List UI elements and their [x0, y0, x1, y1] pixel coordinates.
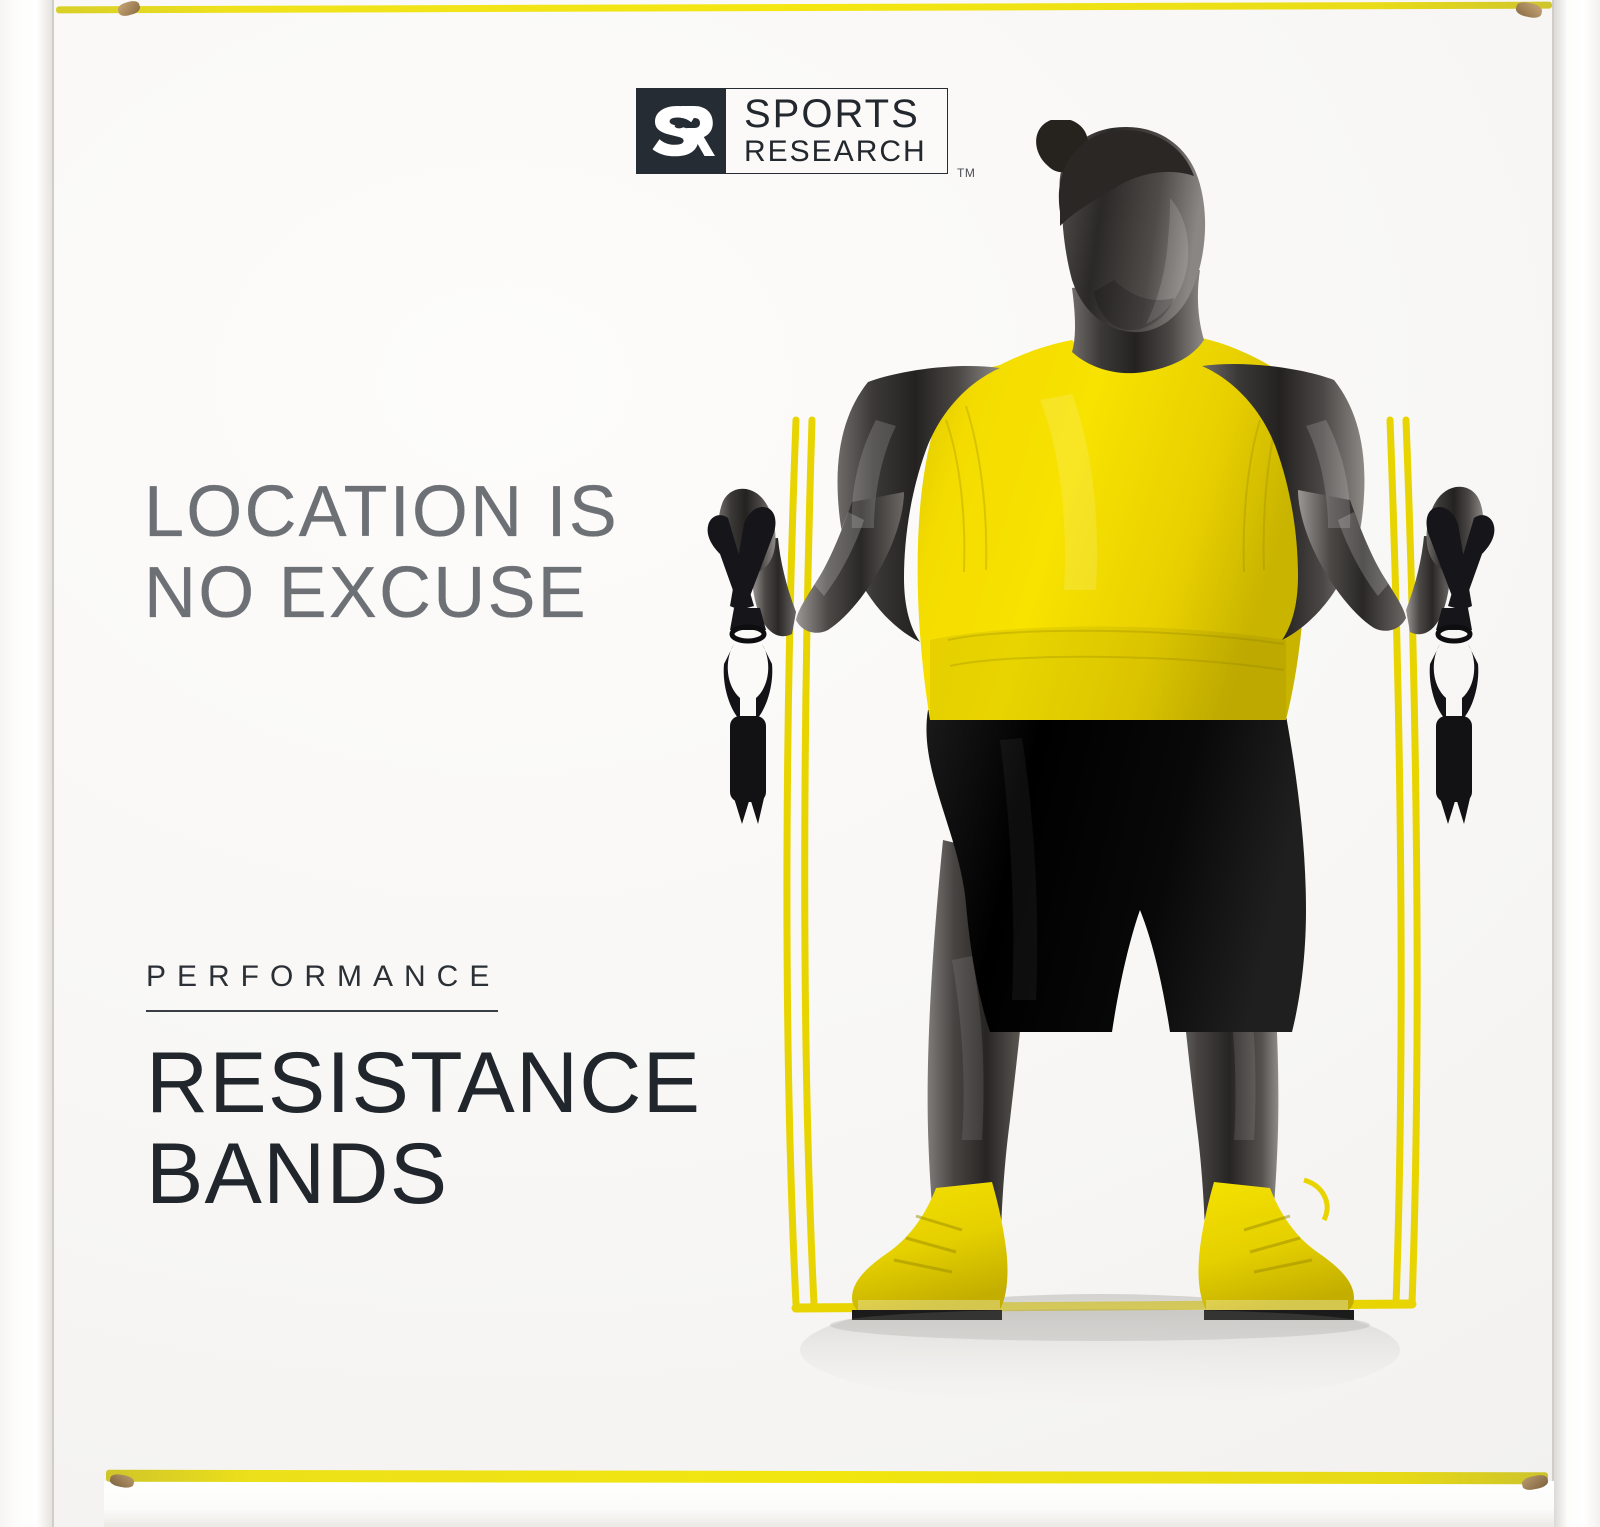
- carabiner-clip-left: [724, 627, 773, 824]
- yellow-running-shoe-right: [1199, 1180, 1355, 1320]
- product-title-block: PERFORMANCE RESISTANCE BANDS: [146, 960, 846, 1220]
- sr-monogram-icon: [636, 88, 726, 174]
- trademark-symbol: TM: [957, 166, 975, 180]
- box-left-crease: [52, 0, 54, 1527]
- tagline: LOCATION IS NO EXCUSE: [144, 472, 844, 633]
- tagline-line-2: NO EXCUSE: [144, 553, 844, 634]
- box-left-side-panel: [0, 0, 52, 1527]
- product-eyebrow: PERFORMANCE: [146, 960, 846, 994]
- yellow-resistance-tube-right: [1390, 420, 1417, 1304]
- product-title-line-2: BANDS: [146, 1129, 846, 1220]
- box-bottom-lip: [104, 1481, 1554, 1527]
- black-athletic-shorts: [926, 710, 1306, 1032]
- title-divider-rule: [146, 1010, 498, 1012]
- athlete-product-photo: [700, 120, 1520, 1450]
- yellow-running-shoe-left: [852, 1182, 1008, 1320]
- brand-logo: SPORTS RESEARCH: [636, 88, 948, 174]
- brand-wordmark: SPORTS RESEARCH: [726, 88, 948, 174]
- carabiner-clip-right: [1430, 627, 1479, 824]
- wordmark-line-research: RESEARCH: [744, 137, 927, 168]
- tagline-line-1: LOCATION IS: [144, 472, 844, 553]
- box-right-side-panel: [1554, 0, 1600, 1527]
- yellow-edge-stripe-bottom: [106, 1470, 1548, 1485]
- wordmark-line-sports: SPORTS: [744, 94, 927, 135]
- box-right-crease: [1552, 0, 1554, 1527]
- product-box: SPORTS RESEARCH TM LOCATION IS NO EXCUSE…: [0, 0, 1600, 1527]
- product-title: RESISTANCE BANDS: [146, 1038, 846, 1220]
- product-title-line-1: RESISTANCE: [146, 1038, 846, 1129]
